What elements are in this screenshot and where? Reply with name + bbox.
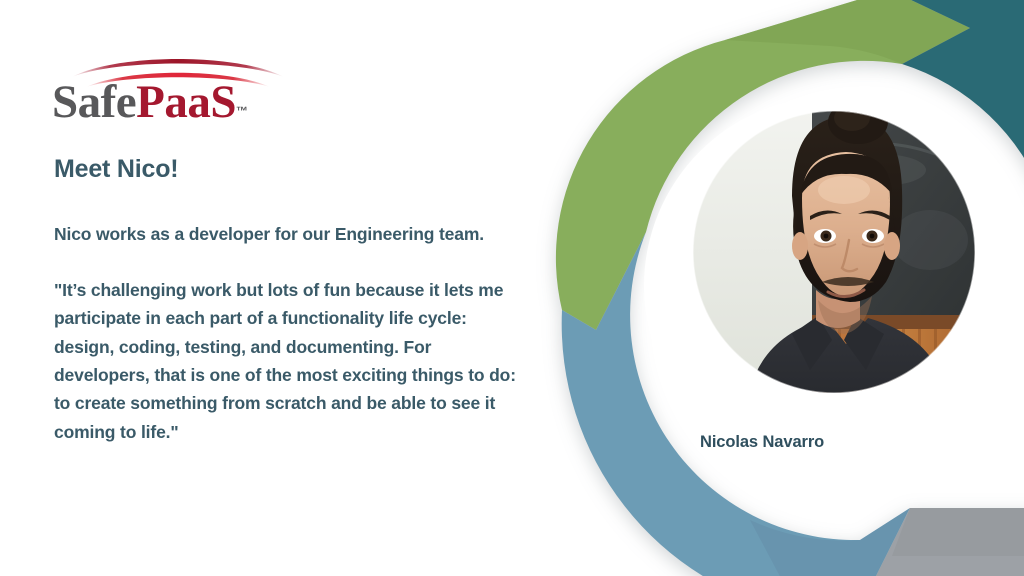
logo-text-paas: PaaS <box>136 76 236 128</box>
logo-wordmark: SafePaaS™ <box>52 79 248 126</box>
left-content-column: SafePaaS™ Meet Nico! Nico works as a dev… <box>0 0 560 576</box>
quote-paragraph: "It’s challenging work but lots of fun b… <box>54 276 530 446</box>
safepaas-logo: SafePaaS™ <box>52 55 282 135</box>
cycle-ring-graphic <box>500 0 1024 576</box>
logo-text-safe: Safe <box>52 76 136 128</box>
gray-arrow-segment-shade <box>892 508 1024 556</box>
slide-canvas: SafePaaS™ Meet Nico! Nico works as a dev… <box>0 0 1024 576</box>
page-title: Meet Nico! <box>54 155 530 184</box>
logo-trademark: ™ <box>236 104 248 118</box>
intro-paragraph: Nico works as a developer for our Engine… <box>54 220 530 248</box>
